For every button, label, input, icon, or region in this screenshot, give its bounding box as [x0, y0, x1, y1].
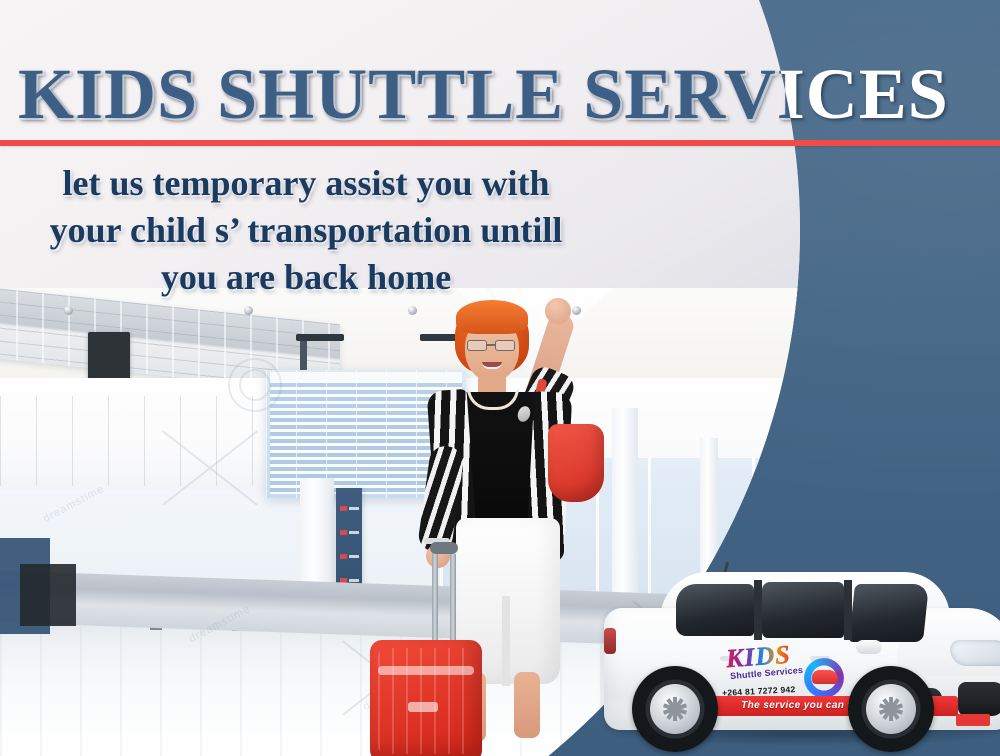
suitcase-strap: [378, 666, 474, 675]
red-suitcase: [370, 640, 482, 756]
mezzanine-doorway: [88, 332, 130, 384]
board-support-post: [300, 340, 307, 374]
suitcase-grooves: [378, 648, 474, 754]
headline-block: KIDS SHUTTLE SERVICES KIDS SHUTTLE SERVI…: [0, 52, 1000, 136]
front-grille: [958, 682, 1000, 716]
suitcase-handle-grip: [430, 542, 458, 554]
wheel-hub: [650, 684, 700, 734]
rear-window: [676, 584, 754, 636]
fringe: [456, 300, 528, 334]
c-pillar: [844, 580, 852, 640]
right-leg: [514, 672, 540, 738]
headlight: [950, 640, 1000, 666]
suitcase-badge: [408, 702, 438, 712]
tagline-line-1: let us temporary assist you with: [0, 160, 612, 207]
rail-fixing: [244, 306, 253, 315]
tagline: let us temporary assist you with your ch…: [0, 160, 612, 301]
tagline-line-3: you are back home: [0, 254, 612, 301]
accent-divider: [0, 140, 1000, 146]
red-handbag: [548, 424, 604, 502]
wheel-hub: [866, 684, 916, 734]
mini-car-icon: [812, 670, 838, 684]
side-mirror: [856, 640, 882, 654]
eyeglasses-icon: [467, 340, 517, 352]
shuttle-car: KIDS Shuttle Services +264 81 7272 942 T…: [598, 556, 1000, 756]
watermark-ring: [228, 358, 282, 412]
poster-canvas: dreamstime dreamstime dreamstime: [0, 0, 1000, 756]
front-wheel: [848, 666, 934, 752]
b-pillar: [754, 580, 762, 640]
front-door-window: [849, 584, 929, 642]
terminal-kiosk: [20, 564, 76, 626]
tail-light: [604, 628, 616, 654]
rear-door-window: [762, 582, 844, 638]
board-support-bracket: [296, 334, 344, 341]
rail-fixing: [64, 306, 73, 315]
vehicle-livery-logo: KIDS Shuttle Services +264 81 7272 942: [720, 642, 846, 700]
rear-wheel: [632, 666, 718, 752]
front-red-accent: [956, 714, 990, 726]
tagline-line-2: your child s’ transportation untill: [0, 207, 612, 254]
suitcase-handle-rod: [432, 546, 438, 654]
suitcase-handle-rod: [450, 554, 456, 654]
pants-gap: [502, 596, 510, 686]
